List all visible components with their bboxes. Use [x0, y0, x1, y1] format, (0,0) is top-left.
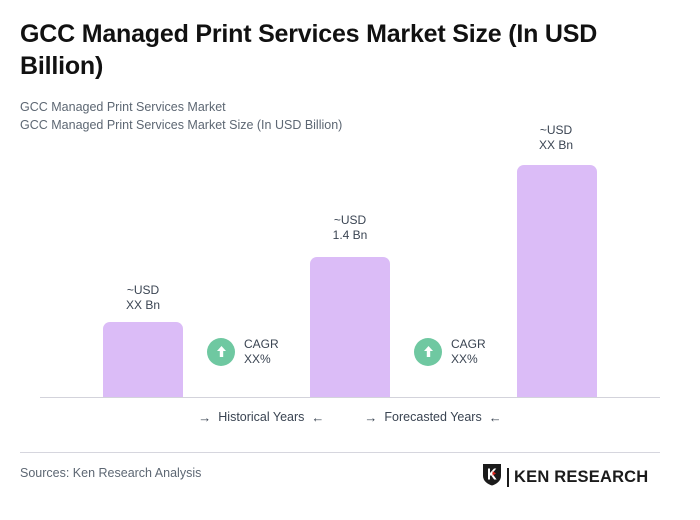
chart-subtitle-market: GCC Managed Print Services Market: [20, 98, 660, 116]
ken-research-logo: KEN RESEARCH: [482, 463, 648, 491]
bar-value-label: ~USD XX Bn: [88, 283, 198, 312]
cagr-label: CAGR XX%: [244, 337, 279, 366]
chart-subtitles: GCC Managed Print Services Market GCC Ma…: [20, 98, 660, 134]
arrow-left-icon: ←: [489, 411, 502, 424]
bar-forecast: [517, 165, 597, 397]
chart-header: GCC Managed Print Services Market Size (…: [20, 18, 660, 134]
arrow-up-icon: [207, 338, 235, 366]
x-axis-legend: → Historical Years ← → Forecasted Years …: [40, 410, 660, 424]
cagr-label-line2: XX%: [244, 352, 279, 367]
arrow-right-icon: →: [364, 411, 377, 424]
bar-value-label-line2: 1.4 Bn: [295, 228, 405, 243]
x-axis-baseline: [40, 397, 660, 398]
bar-value-label-line2: XX Bn: [88, 298, 198, 313]
bar-value-label-line1: ~USD: [88, 283, 198, 298]
cagr-label-line1: CAGR: [451, 337, 486, 352]
footer-divider: [20, 452, 660, 453]
logo-divider: [507, 468, 509, 487]
axis-period-label: Historical Years: [218, 410, 304, 424]
axis-period-forecasted: → Forecasted Years ←: [364, 410, 501, 424]
bar-base-year: [310, 257, 390, 397]
bar-value-label-line1: ~USD: [295, 213, 405, 228]
cagr-badge: CAGR XX%: [207, 337, 279, 366]
shield-k-icon: [482, 463, 502, 491]
bar-historical: [103, 322, 183, 397]
arrow-up-icon: [414, 338, 442, 366]
axis-period-historical: → Historical Years ←: [198, 410, 324, 424]
page-title: GCC Managed Print Services Market Size (…: [20, 18, 660, 82]
cagr-label-line1: CAGR: [244, 337, 279, 352]
cagr-label: CAGR XX%: [451, 337, 486, 366]
sources-text: Sources: Ken Research Analysis: [20, 466, 201, 480]
axis-period-label: Forecasted Years: [384, 410, 481, 424]
chart-page: GCC Managed Print Services Market Size (…: [0, 0, 700, 520]
bar-value-label-line2: XX Bn: [501, 138, 611, 153]
arrow-right-icon: →: [198, 411, 211, 424]
cagr-badge: CAGR XX%: [414, 337, 486, 366]
cagr-label-line2: XX%: [451, 352, 486, 367]
chart-subtitle-metric: GCC Managed Print Services Market Size (…: [20, 116, 660, 134]
bar-value-label: ~USD 1.4 Bn: [295, 213, 405, 242]
brand-wordmark: KEN RESEARCH: [514, 469, 648, 486]
arrow-left-icon: ←: [311, 411, 324, 424]
